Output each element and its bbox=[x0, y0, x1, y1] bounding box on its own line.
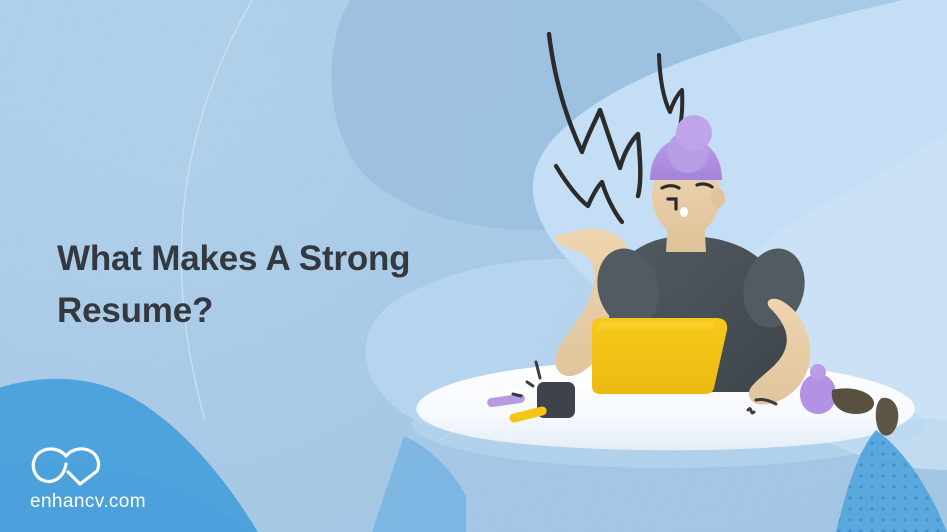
banner-canvas: What Makes A Strong Resume? enhancv.com bbox=[0, 0, 947, 532]
page-title: What Makes A Strong Resume? bbox=[57, 233, 487, 337]
laptop-edge-highlight bbox=[596, 322, 714, 330]
bag-knob bbox=[810, 364, 826, 380]
infinity-heart-icon bbox=[30, 446, 106, 488]
brand-logo[interactable]: enhancv.com bbox=[30, 446, 180, 513]
hair-bun-top bbox=[676, 115, 712, 151]
blue-sliver-left bbox=[372, 436, 466, 532]
brand-name: enhancv.com bbox=[30, 491, 180, 513]
ear bbox=[711, 188, 725, 208]
mouth-highlight bbox=[680, 207, 688, 217]
